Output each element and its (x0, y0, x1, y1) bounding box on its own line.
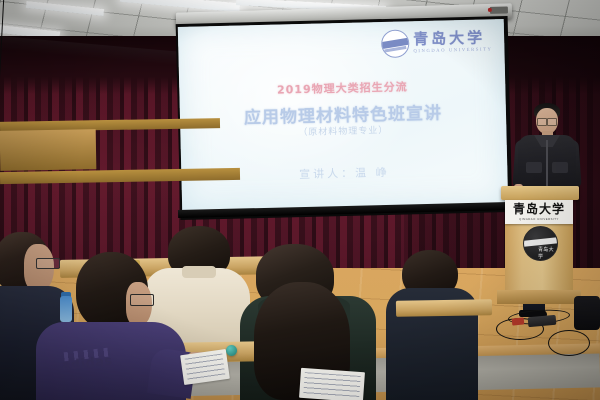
jacket-pocket-right (552, 162, 568, 173)
water-bottle (60, 296, 72, 322)
podium-base (497, 290, 581, 304)
eyeglasses-icon (36, 258, 60, 269)
logo-english-name: QINGDAO UNIVERSITY (413, 48, 492, 55)
desk-right (396, 299, 492, 317)
dark-bag-object (574, 296, 600, 330)
paper-sheet (180, 349, 230, 385)
university-emblem-icon (381, 29, 410, 58)
power-plug-icon (512, 317, 525, 325)
open-notebook (299, 368, 365, 400)
podium-top-surface (501, 186, 579, 200)
projector-screen: 青岛大学 QINGDAO UNIVERSITY 2019物理大类招生分流 应用物… (178, 19, 508, 213)
teal-desk-object (226, 345, 237, 356)
shirt-collar (182, 266, 216, 278)
floor-cable-loop (548, 330, 590, 356)
jacket-zipper (546, 140, 548, 186)
podium-emblem-text: 青岛大学 (538, 246, 557, 260)
university-logo: 青岛大学 QINGDAO UNIVERSITY (381, 27, 493, 58)
eyeglasses-icon (130, 294, 154, 306)
jacket-pocket-left (526, 162, 542, 173)
podium-emblem-icon: 青岛大学 (523, 226, 558, 261)
podium-banner: 青岛大学 QINGDAO UNIVERSITY (505, 200, 573, 224)
podium-banner-english: QINGDAO UNIVERSITY (519, 217, 559, 221)
housing-end-cap (490, 6, 508, 13)
podium-banner-chinese: 青岛大学 (513, 203, 565, 215)
lecture-hall-photo: 青岛大学 QINGDAO UNIVERSITY 2019物理大类招生分流 应用物… (0, 0, 600, 400)
desk-right-panel (0, 129, 96, 171)
status-led-icon (488, 8, 492, 12)
podium: 青岛大学 QINGDAO UNIVERSITY 青岛大学 (503, 186, 577, 310)
logo-chinese-name: 青岛大学 (413, 31, 492, 48)
speaker-person (516, 100, 578, 192)
eyeglasses-icon (537, 118, 557, 124)
